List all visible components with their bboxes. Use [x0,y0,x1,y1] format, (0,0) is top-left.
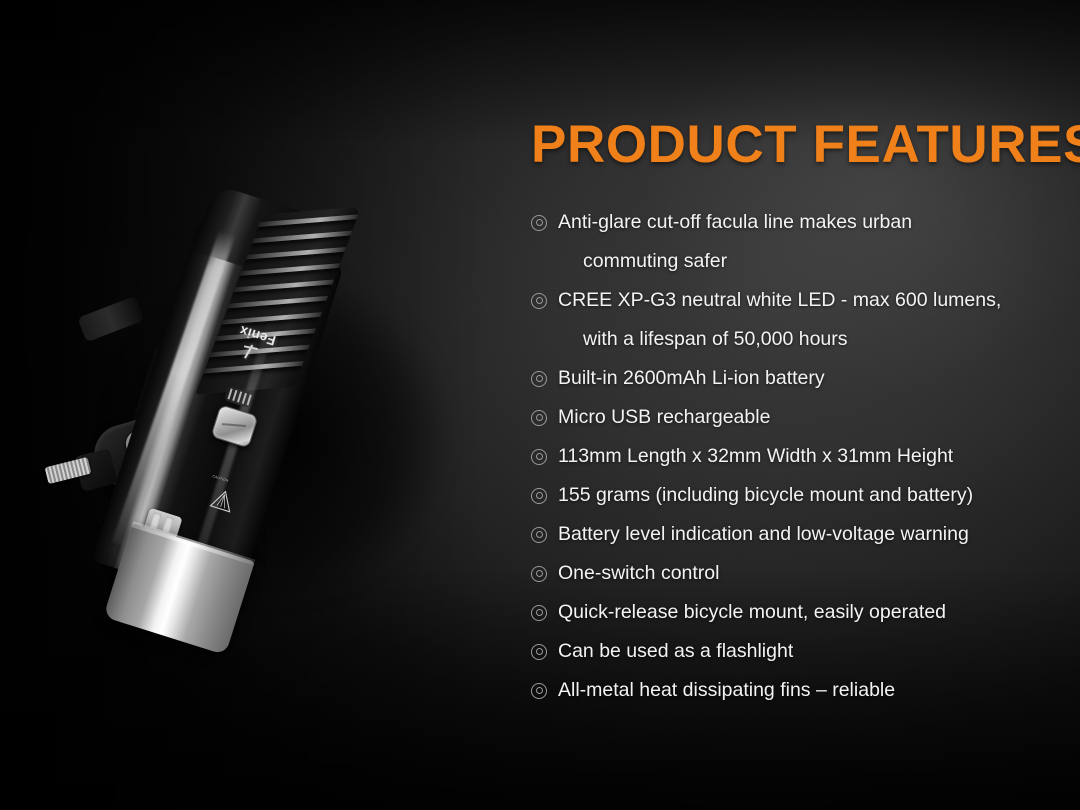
feature-item: with a lifespan of 50,000 hours [531,320,1031,359]
feature-item: All-metal heat dissipating fins – reliab… [531,671,1031,710]
double-circle-bullet-icon [531,566,547,582]
feature-text: 155 grams (including bicycle mount and b… [558,484,973,506]
feature-item: Micro USB rechargeable [531,398,1031,437]
feature-item: 113mm Length x 32mm Width x 31mm Height [531,437,1031,476]
double-circle-bullet-icon [531,215,547,231]
double-circle-bullet-icon [531,683,547,699]
feature-text: All-metal heat dissipating fins – reliab… [558,679,895,701]
double-circle-bullet-icon [531,488,547,504]
double-circle-bullet-icon [531,527,547,543]
product-photo: Fenix CAUTION [0,0,531,810]
feature-text: with a lifespan of 50,000 hours [583,328,848,350]
fin-line [246,247,347,260]
feature-text: Micro USB rechargeable [558,406,770,428]
fin-line [240,263,341,276]
feature-item: One-switch control [531,554,1031,593]
fin-line [252,231,353,244]
feature-text: Can be used as a flashlight [558,640,793,662]
product-feature-slide: Fenix CAUTION PRODUCT FEAT [0,0,1080,810]
double-circle-bullet-icon [531,371,547,387]
feature-item: Quick-release bicycle mount, easily oper… [531,593,1031,632]
feature-item: 155 grams (including bicycle mount and b… [531,476,1031,515]
double-circle-bullet-icon [531,449,547,465]
feature-item: Anti-glare cut-off facula line makes urb… [531,203,1031,242]
feature-item: Battery level indication and low-voltage… [531,515,1031,554]
feature-text: One-switch control [558,562,719,584]
double-circle-bullet-icon [531,293,547,309]
double-circle-bullet-icon [531,644,547,660]
feature-item: Can be used as a flashlight [531,632,1031,671]
feature-text: Anti-glare cut-off facula line makes urb… [558,211,912,233]
double-circle-bullet-icon [531,605,547,621]
feature-text: commuting safer [583,250,727,272]
feature-text-column: PRODUCT FEATURES Anti-glare cut-off facu… [531,0,1051,810]
feature-text: Built-in 2600mAh Li-ion battery [558,367,825,389]
feature-text: CREE XP-G3 neutral white LED - max 600 l… [558,289,1001,311]
page-title: PRODUCT FEATURES [531,118,1080,171]
fin-line [227,296,328,309]
feature-list: Anti-glare cut-off facula line makes urb… [531,203,1031,710]
feature-item: Built-in 2600mAh Li-ion battery [531,359,1031,398]
fin-line [258,214,359,227]
feature-text: Quick-release bicycle mount, easily oper… [558,601,946,623]
feature-item: commuting safer [531,242,1031,281]
fin-line [234,280,335,293]
feature-item: CREE XP-G3 neutral white LED - max 600 l… [531,281,1031,320]
feature-text: 113mm Length x 32mm Width x 31mm Height [558,445,953,467]
double-circle-bullet-icon [531,410,547,426]
feature-text: Battery level indication and low-voltage… [558,523,969,545]
